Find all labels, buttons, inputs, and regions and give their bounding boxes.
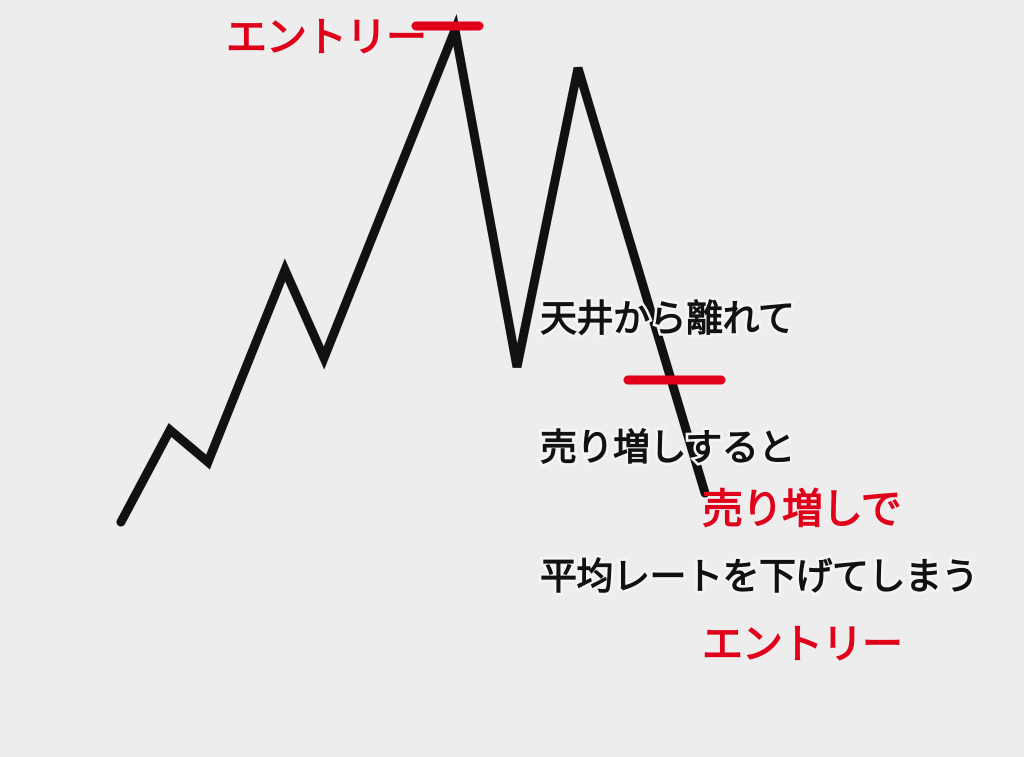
annotation-entry-bottom-line-1: 売り増しで	[702, 487, 902, 532]
annotation-entry-bottom: 売り増しで エントリー	[702, 397, 902, 757]
annotation-entry-bottom-line-2: エントリー	[702, 622, 902, 667]
chart-canvas: エントリー 天井から離れて 売り増しすると 平均レートを下げてしまう 売り増しで…	[0, 0, 1024, 569]
annotation-entry-top: エントリー	[226, 17, 426, 58]
annotation-explanation-line-1: 天井から離れて	[540, 297, 978, 340]
